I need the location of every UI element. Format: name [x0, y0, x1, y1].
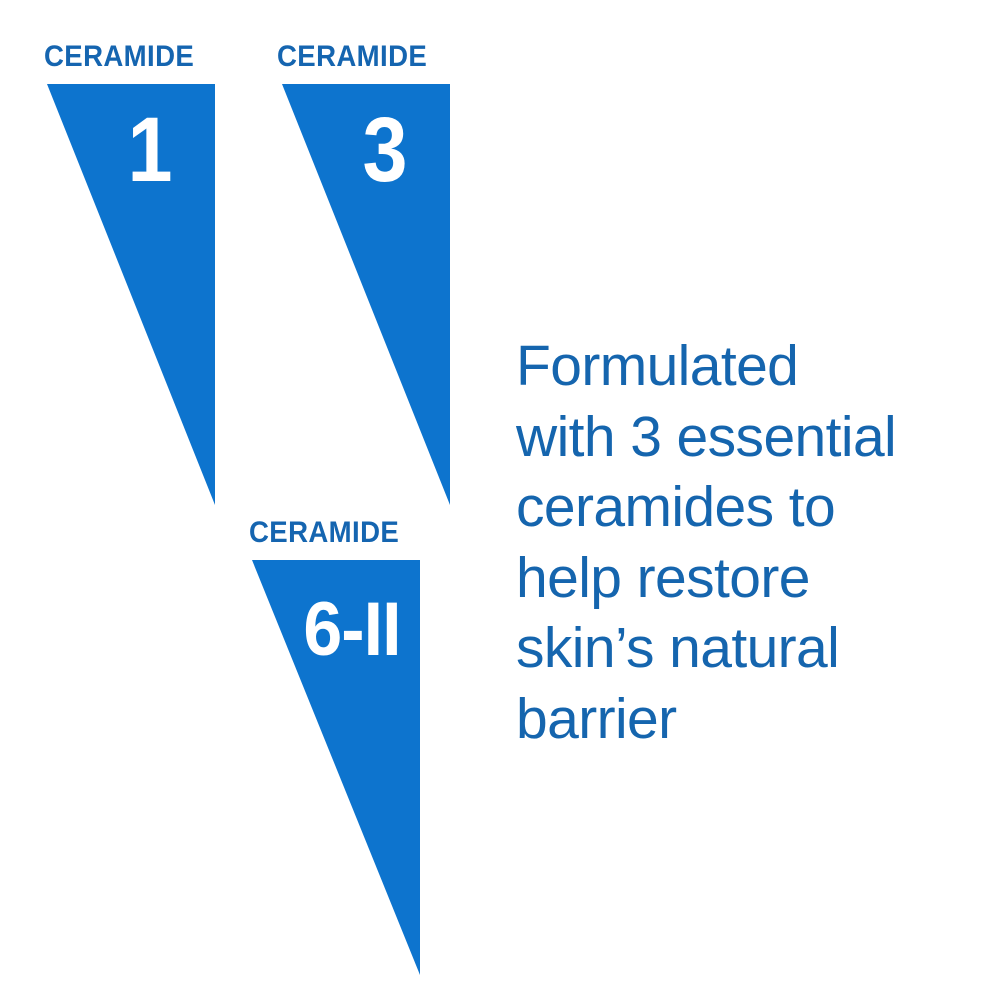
ceramide-pennant-6-ii-number: 6-II: [282, 592, 422, 668]
ceramide-pennant-6-ii: CERAMIDE 6-II: [0, 0, 470, 1000]
marketing-copy-text: Formulated with 3 essential ceramides to…: [516, 331, 986, 754]
ceramide-pennant-6-ii-triangle-icon: [0, 0, 470, 1000]
infographic-canvas: CERAMIDE 1 CERAMIDE 3 CERAMIDE 6-II Form…: [0, 0, 1000, 1000]
